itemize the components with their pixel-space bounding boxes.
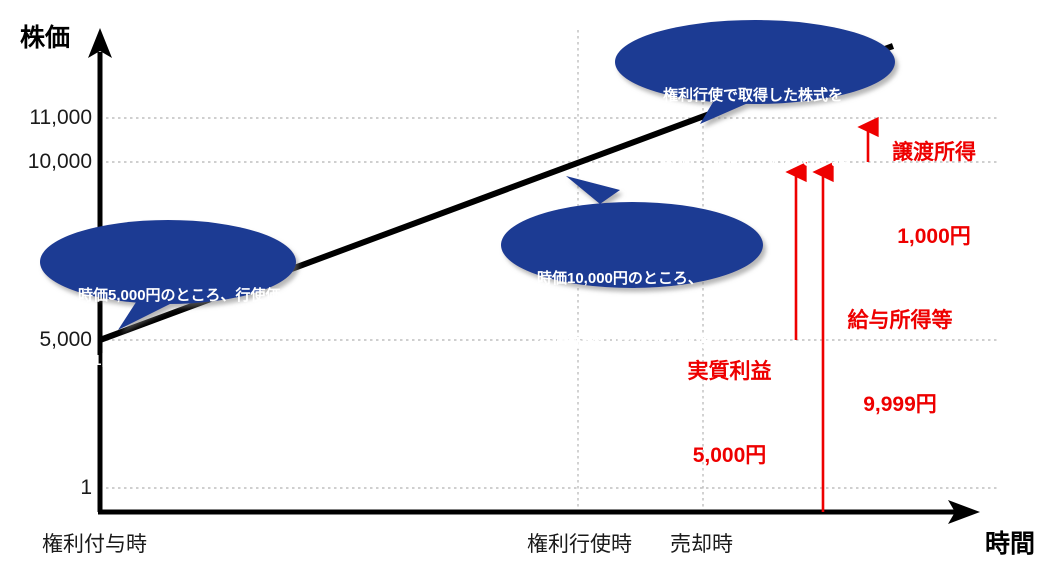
- callout-text-sale-line1: 権利行使で取得した株式を: [663, 85, 858, 107]
- y-tick-10000: 10,000: [14, 149, 92, 176]
- annotation-transfer-income-amount: 1,000円: [874, 223, 994, 251]
- callout-text-exercise-line1: 時価10,000円のところ、: [537, 268, 747, 290]
- annotation-transfer-income: 譲渡所得 1,000円: [874, 84, 994, 306]
- callout-text-sale-line2: 時価11,000円で売却できる。: [663, 150, 858, 172]
- annotation-real-profit-title: 実質利益: [672, 358, 787, 386]
- callout-text-grant: 時価5,000円のところ、行使価 格1円で権利付与する。: [78, 241, 278, 415]
- annotation-real-profit: 実質利益 5,000円: [672, 303, 787, 525]
- annotation-salary-income-amount: 9,999円: [830, 391, 970, 419]
- x-axis-title: 時間: [985, 528, 1035, 560]
- annotation-salary-income-title: 給与所得等: [830, 307, 970, 335]
- y-tick-1: 1: [14, 475, 92, 502]
- chart-figure: 11,000 10,000 5,000 1 株価 時間 権利付与時 権利行使時 …: [0, 0, 1050, 584]
- y-tick-11000: 11,000: [14, 105, 92, 132]
- callout-text-sale: 権利行使で取得した株式を 時価11,000円で売却できる。: [663, 41, 858, 215]
- annotation-transfer-income-title: 譲渡所得: [874, 139, 994, 167]
- x-tick-sale: 売却時: [670, 532, 733, 559]
- y-axis-title: 株価: [20, 22, 70, 54]
- x-tick-exercise: 権利行使時: [527, 532, 632, 559]
- callout-text-grant-line1: 時価5,000円のところ、行使価: [78, 285, 278, 307]
- callout-text-grant-line2: 格1円で権利付与する。: [78, 350, 278, 372]
- x-tick-grant: 権利付与時: [42, 532, 147, 559]
- annotation-real-profit-amount: 5,000円: [672, 442, 787, 470]
